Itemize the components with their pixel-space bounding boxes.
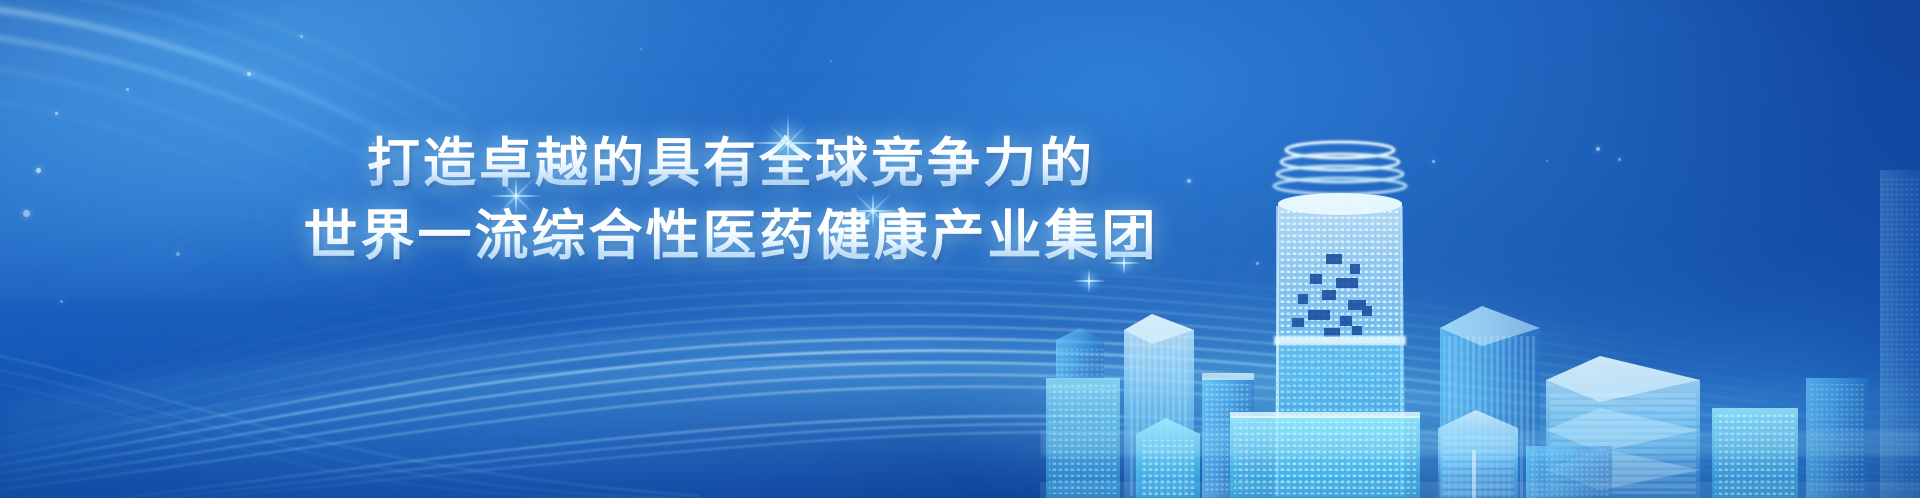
city-skyline-silhouette [1040, 78, 1920, 498]
hero-banner: 打造卓越的具有全球竞争力的 世界一流综合性医药健康产业集团 [0, 0, 1920, 498]
bokeh-particle [830, 60, 832, 62]
